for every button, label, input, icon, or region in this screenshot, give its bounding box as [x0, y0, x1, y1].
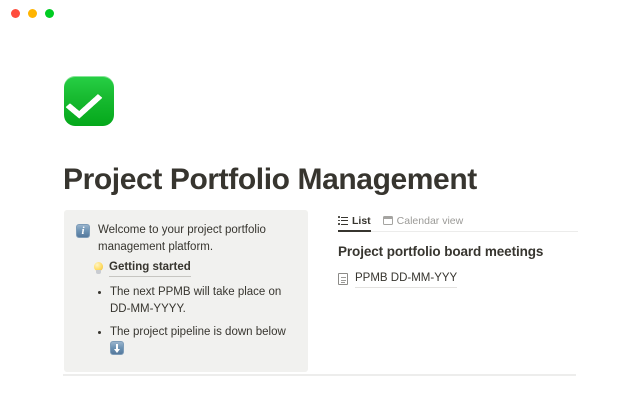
information-icon — [76, 224, 90, 238]
section-divider — [63, 374, 576, 376]
page-document-icon — [338, 273, 348, 285]
callout-welcome-text: Welcome to your project portfolio manage… — [98, 222, 284, 256]
app-window: Project Portfolio Management Welcome to … — [0, 0, 640, 400]
table-row-label[interactable]: PPMB DD-MM-YYY — [355, 270, 457, 288]
tab-list[interactable]: List — [338, 210, 371, 232]
getting-started-row[interactable]: Getting started — [76, 259, 294, 277]
page-content: Project Portfolio Management Welcome to … — [0, 26, 640, 400]
white-heavy-check-mark-icon — [64, 76, 114, 126]
callout-header-row: Welcome to your project portfolio manage… — [76, 222, 294, 256]
list-item-label: The project pipeline is down below — [110, 326, 286, 338]
table-row[interactable]: PPMB DD-MM-YYY — [338, 270, 578, 288]
list-item: The project pipeline is down below — [98, 324, 294, 358]
close-window-button[interactable] — [11, 9, 20, 18]
database-title[interactable]: Project portfolio board meetings — [338, 243, 578, 261]
down-arrow-icon — [110, 341, 124, 355]
page-icon-button[interactable] — [64, 76, 116, 128]
two-column-layout: Welcome to your project portfolio manage… — [0, 210, 640, 360]
database-view-block: List Calendar view Project portfolio boa… — [338, 210, 578, 288]
light-bulb-icon — [94, 262, 103, 275]
callout-bullet-list: The next PPMB will take place on DD-MM-Y… — [76, 284, 294, 358]
calendar-icon — [383, 216, 393, 225]
window-titlebar — [0, 0, 640, 26]
zoom-window-button[interactable] — [45, 9, 54, 18]
tab-list-label: List — [352, 210, 371, 232]
minimize-window-button[interactable] — [28, 9, 37, 18]
getting-started-link[interactable]: Getting started — [109, 259, 191, 277]
list-item: The next PPMB will take place on DD-MM-Y… — [98, 284, 294, 318]
database-view-tabs: List Calendar view — [338, 210, 578, 232]
list-icon — [338, 216, 348, 225]
page-title[interactable]: Project Portfolio Management — [63, 162, 477, 198]
callout-block[interactable]: Welcome to your project portfolio manage… — [64, 210, 308, 372]
traffic-light-buttons — [11, 9, 54, 18]
tab-calendar-view-label: Calendar view — [397, 210, 464, 232]
tab-calendar-view[interactable]: Calendar view — [383, 210, 464, 232]
